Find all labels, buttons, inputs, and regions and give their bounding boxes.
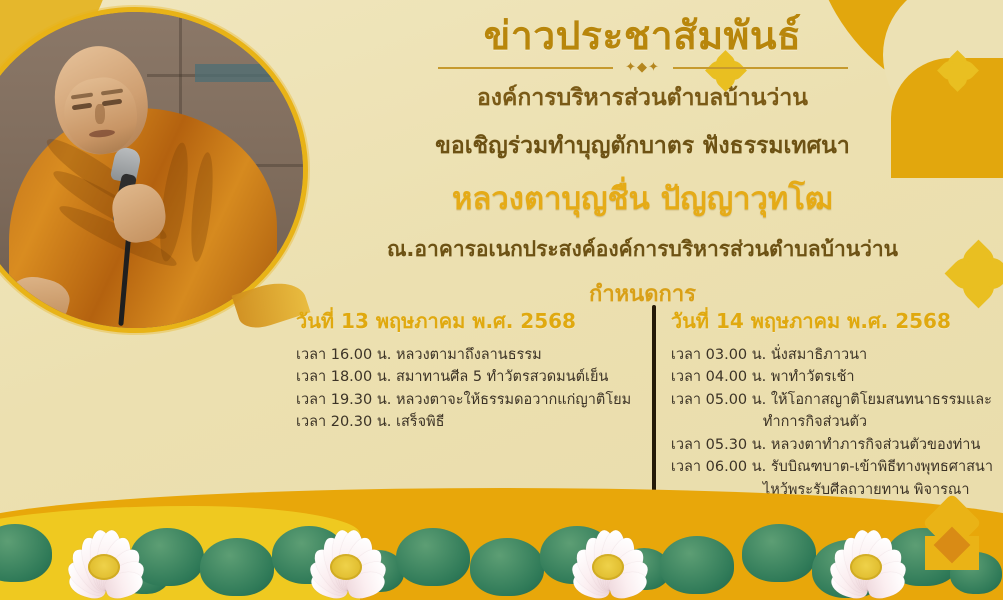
invitation-line: ขอเชิญร่วมทำบุญตักบาตร ฟังธรรมเทศนา [300, 128, 985, 164]
schedule-item: เวลา 04.00 น. พาทำวัตรเช้า [671, 366, 993, 388]
photo-nose [95, 104, 105, 124]
schedule-item: เวลา 19.30 น. หลวงตาจะให้ธรรมดอวากแก่ญาต… [296, 389, 637, 411]
organization-name: องค์การบริหารส่วนตำบลบ้านว่าน [300, 80, 985, 116]
monk-portrait-photo [0, 7, 308, 333]
schedule-item: เวลา 18.00 น. สมาทานศีล 5 ทำวัตรสวดมนต์เ… [296, 366, 637, 388]
schedule-item: เวลา 20.30 น. เสร็จพิธี [296, 411, 637, 433]
lotus-core [850, 554, 882, 580]
lotus-flower [286, 502, 406, 600]
lotus-core [330, 554, 362, 580]
divider-gem-icon: ✦◆✦ [625, 61, 660, 75]
lotus-leaf [200, 538, 274, 596]
schedule-item: เวลา 06.00 น. รับบิณฑบาต-เข้าพิธีทางพุทธ… [671, 456, 993, 478]
quatrefoil-ornament-icon [941, 54, 975, 88]
lotus-core [592, 554, 624, 580]
photo-inner [0, 12, 303, 328]
schedule-item: เวลา 16.00 น. หลวงตามาถึงลานธรรม [296, 344, 637, 366]
lotus-leaf [470, 538, 544, 596]
schedule-item: ทำการกิจส่วนตัว [671, 411, 993, 433]
lotus-flower [806, 502, 926, 600]
schedule-column-day2: วันที่ 14 พฤษภาคม พ.ศ. 2568 เวลา 03.00 น… [651, 305, 993, 520]
lotus-flower [44, 502, 164, 600]
day2-heading: วันที่ 14 พฤษภาคม พ.ศ. 2568 [671, 305, 993, 337]
thai-gold-ornament [915, 500, 989, 570]
monk-name: หลวงตาบุญชื่น ปัญญาวุทโฒ [300, 173, 985, 223]
quatrefoil-edge-ornament-icon [951, 246, 1003, 302]
day1-heading: วันที่ 13 พฤษภาคม พ.ศ. 2568 [296, 305, 637, 337]
photo-wall-panel [195, 64, 300, 82]
title-divider-ornament: ✦◆✦ [428, 61, 858, 75]
lotus-leaf [742, 524, 816, 582]
schedule-item: เวลา 05.00 น. ให้โอกาสญาติโยมสนทนาธรรมแล… [671, 389, 993, 411]
header-block: ข่าวประชาสัมพันธ์ ✦◆✦ องค์การบริหารส่วนต… [300, 16, 985, 311]
schedule-item: เวลา 05.30 น. หลวงตาทำภารกิจส่วนตัวของท่… [671, 434, 993, 456]
schedule-item: เวลา 03.00 น. นั่งสมาธิภาวนา [671, 344, 993, 366]
day1-item-list: เวลา 16.00 น. หลวงตามาถึงลานธรรมเวลา 18.… [296, 344, 637, 434]
lotus-leaf [396, 528, 470, 586]
page-title: ข่าวประชาสัมพันธ์ [484, 16, 802, 59]
venue-line: ณ.อาคารอเนกประสงค์องค์การบริหารส่วนตำบลบ… [300, 233, 985, 266]
lotus-core [88, 554, 120, 580]
lotus-leaf [660, 536, 734, 594]
poster-canvas: ข่าวประชาสัมพันธ์ ✦◆✦ องค์การบริหารส่วนต… [0, 0, 1003, 600]
lotus-flower [548, 502, 668, 600]
